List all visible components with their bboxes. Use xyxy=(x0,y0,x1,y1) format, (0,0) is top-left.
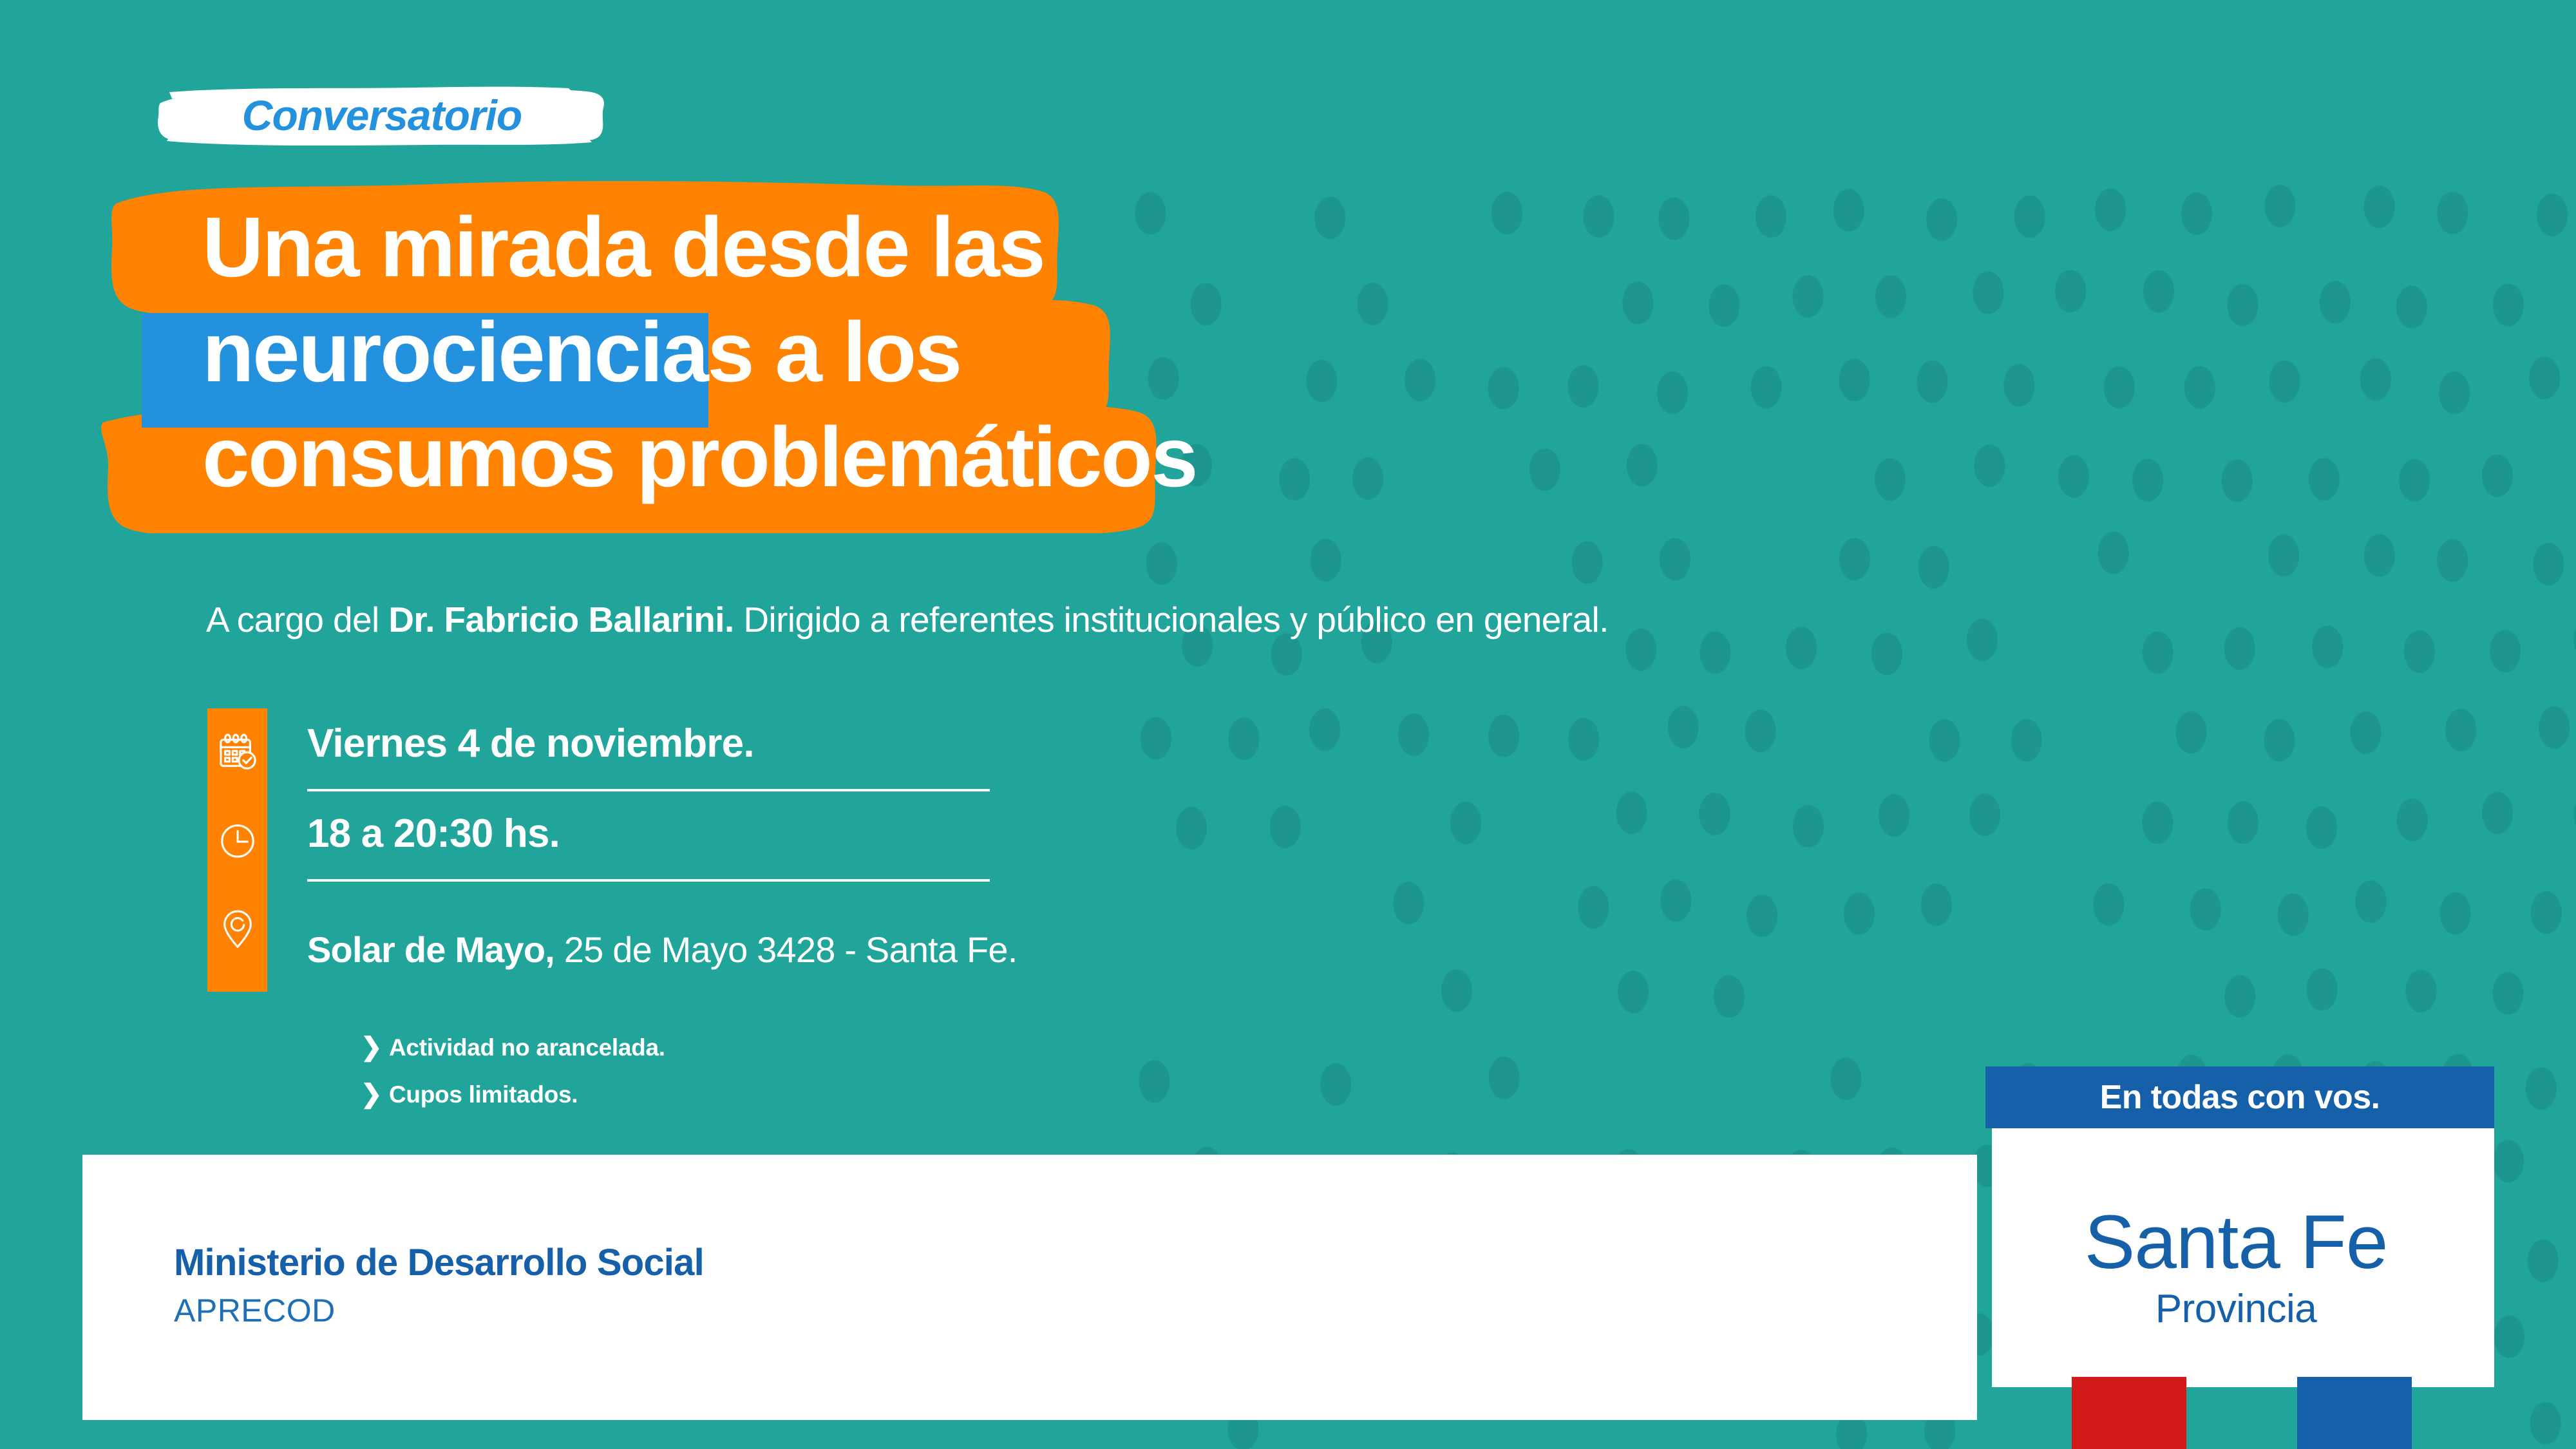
detail-venue-address: 25 de Mayo 3428 - Santa Fe. xyxy=(554,929,1018,970)
chevron-right-icon: ❯ xyxy=(361,1071,389,1118)
detail-rows: Viernes 4 de noviembre. 18 a 20:30 hs. S… xyxy=(307,708,1003,979)
headline-line-3: consumos problemáticos xyxy=(97,404,1835,509)
detail-divider xyxy=(307,879,990,882)
brand-card: Santa Fe Provincia xyxy=(1992,1128,2494,1387)
event-details-block: Viernes 4 de noviembre. 18 a 20:30 hs. S… xyxy=(207,708,1109,992)
detail-row-time: 18 a 20:30 hs. xyxy=(307,799,1003,889)
calendar-check-icon xyxy=(218,733,258,773)
subtitle-line: A cargo del Dr. Fabricio Ballarini. Diri… xyxy=(206,599,1609,640)
detail-icon-rail xyxy=(207,708,267,992)
badge-label: Conversatorio xyxy=(156,86,607,147)
detail-divider xyxy=(307,789,990,791)
speaker-name: Dr. Fabricio Ballarini. xyxy=(388,600,734,639)
detail-time-strong: 18 a 20:30 hs. xyxy=(307,811,560,856)
note-item: ❯Actividad no arancelada. xyxy=(361,1024,665,1071)
detail-venue-strong: Solar de Mayo, xyxy=(307,929,554,970)
detail-venue-text: Solar de Mayo, 25 de Mayo 3428 - Santa F… xyxy=(307,927,1018,972)
brand-tagline-label: En todas con vos. xyxy=(2100,1078,2380,1117)
note-label: Cupos limitados. xyxy=(389,1071,578,1118)
brand-tagline-banner: En todas con vos. xyxy=(1985,1066,2494,1128)
headline-line-2: neurociencias a los xyxy=(97,299,1835,404)
headline-line-1: Una mirada desde las xyxy=(97,173,1835,299)
chevron-right-icon: ❯ xyxy=(361,1024,389,1071)
santa-fe-logo-block: En todas con vos. Santa Fe Provincia xyxy=(1985,1066,2494,1449)
notes-list: ❯Actividad no arancelada. ❯Cupos limitad… xyxy=(361,1024,665,1118)
headline-block: Una mirada desde las neurociencias a los… xyxy=(97,173,1835,533)
detail-row-venue: Solar de Mayo, 25 de Mayo 3428 - Santa F… xyxy=(307,889,1003,979)
footer-text-block: Ministerio de Desarrollo Social APRECOD xyxy=(174,1240,704,1329)
flag-square-blue xyxy=(2297,1377,2412,1449)
detail-date-strong: Viernes 4 de noviembre. xyxy=(307,721,754,766)
note-item: ❯Cupos limitados. xyxy=(361,1071,665,1118)
note-label: Actividad no arancelada. xyxy=(389,1024,665,1071)
brand-name: Santa Fe xyxy=(1992,1204,2480,1280)
footer-bar: Ministerio de Desarrollo Social APRECOD xyxy=(82,1155,1977,1420)
detail-time-text: 18 a 20:30 hs. xyxy=(307,811,560,857)
ministry-name: Ministerio de Desarrollo Social xyxy=(174,1240,704,1285)
brand-subtitle: Provincia xyxy=(1992,1289,2480,1329)
clock-icon xyxy=(218,821,258,861)
event-poster: Conversatorio Una mirada desde las neuro… xyxy=(0,0,2576,1449)
headline-highlight-word: neurociencias xyxy=(202,305,753,399)
flag-square-red xyxy=(2072,1377,2186,1449)
programme-name: APRECOD xyxy=(174,1292,704,1329)
location-pin-icon xyxy=(218,909,258,949)
subtitle-prefix: A cargo del xyxy=(206,600,388,639)
badge-conversatorio: Conversatorio xyxy=(156,86,607,147)
detail-date-text: Viernes 4 de noviembre. xyxy=(307,721,754,766)
detail-row-date: Viernes 4 de noviembre. xyxy=(307,708,1003,799)
headline-line-2-rest: a los xyxy=(753,305,960,399)
subtitle-suffix: Dirigido a referentes institucionales y … xyxy=(734,600,1609,639)
